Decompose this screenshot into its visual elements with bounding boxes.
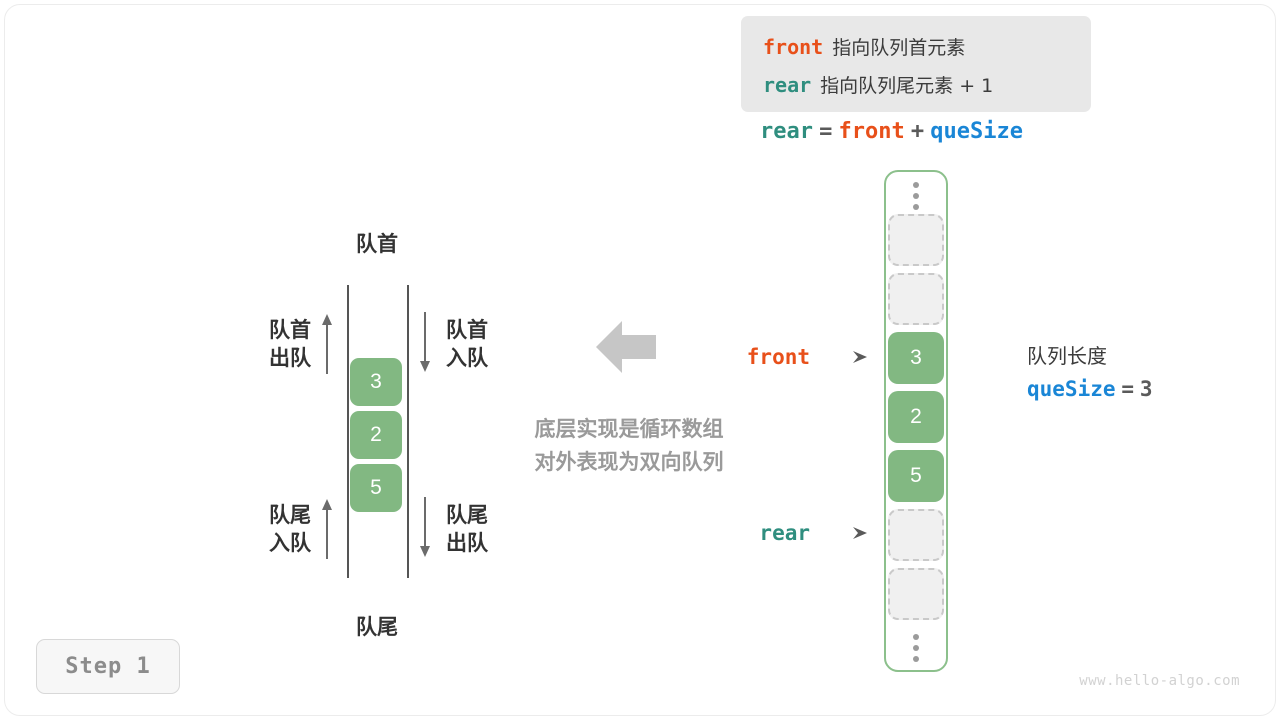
- legend-text-rear: 指向队列尾元素 + 1: [820, 75, 993, 97]
- ellipsis-top-icon: [906, 182, 926, 210]
- rear-pointer-arrow-icon: [852, 526, 870, 540]
- queue-size-block: 队列长度 queSize = 3: [1027, 340, 1153, 407]
- pointer-legend-box: front指向队列首元素 rear指向队列尾元素 + 1: [741, 16, 1091, 112]
- label-front-enqueue-line1: 队首: [446, 316, 488, 344]
- queue-size-formula: queSize = 3: [1027, 372, 1153, 407]
- deque-head-label: 队首: [317, 228, 437, 258]
- array-slot: 3: [888, 332, 944, 384]
- label-front-dequeue-line1: 队首: [249, 316, 311, 344]
- legend-keyword-rear: rear: [763, 73, 811, 97]
- label-rear-dequeue: 队尾 出队: [446, 501, 488, 557]
- label-rear-enqueue: 队尾 入队: [249, 501, 311, 557]
- arrow-up-icon: [320, 312, 334, 374]
- implementation-note-line2: 对外表现为双向队列: [500, 446, 758, 479]
- queue-size-equals: =: [1121, 377, 1134, 401]
- watermark: www.hello-algo.com: [1020, 673, 1240, 689]
- arrow-left-icon: [595, 318, 657, 381]
- array-slot: 5: [888, 450, 944, 502]
- front-pointer-label: front: [700, 345, 810, 369]
- diagram-canvas: front指向队列首元素 rear指向队列尾元素 + 1 rear = fron…: [0, 0, 1280, 720]
- legend-keyword-front: front: [763, 35, 823, 59]
- arrow-down-icon: [418, 312, 432, 374]
- label-front-enqueue: 队首 入队: [446, 316, 488, 372]
- array-slot: 2: [888, 391, 944, 443]
- formula-plus: +: [911, 119, 924, 144]
- label-front-dequeue-line2: 出队: [249, 344, 311, 372]
- queue-size-title: 队列长度: [1027, 340, 1153, 372]
- implementation-note: 底层实现是循环数组 对外表现为双向队列: [500, 413, 758, 479]
- deque-cell: 5: [350, 464, 402, 512]
- label-rear-enqueue-line2: 入队: [249, 529, 311, 557]
- legend-text-front: 指向队列首元素: [832, 37, 965, 59]
- deque-rail-left: [347, 285, 349, 578]
- formula-front: front: [838, 119, 904, 144]
- array-slot: [888, 273, 944, 325]
- deque-tail-label: 队尾: [317, 611, 437, 641]
- front-pointer-arrow-icon: [852, 350, 870, 364]
- ellipsis-bottom-icon: [906, 634, 926, 662]
- array-slot: [888, 509, 944, 561]
- array-slot: [888, 214, 944, 266]
- array-slot: [888, 568, 944, 620]
- label-rear-enqueue-line1: 队尾: [249, 501, 311, 529]
- queue-size-value: 3: [1140, 377, 1153, 401]
- queue-size-var: queSize: [1027, 377, 1116, 401]
- label-front-enqueue-line2: 入队: [446, 344, 488, 372]
- arrow-up-icon: [320, 497, 334, 559]
- formula-quesize: queSize: [930, 119, 1023, 144]
- deque-cell: 2: [350, 411, 402, 459]
- label-rear-dequeue-line2: 出队: [446, 529, 488, 557]
- formula-equals: =: [819, 119, 832, 144]
- implementation-note-line1: 底层实现是循环数组: [500, 413, 758, 446]
- label-rear-dequeue-line1: 队尾: [446, 501, 488, 529]
- legend-row-rear: rear指向队列尾元素 + 1: [763, 67, 1091, 105]
- step-badge: Step 1: [36, 639, 180, 694]
- deque-cell: 3: [350, 358, 402, 406]
- rear-formula: rear = front + queSize: [760, 118, 1023, 144]
- arrow-down-icon: [418, 497, 432, 559]
- formula-rear: rear: [760, 119, 813, 144]
- label-front-dequeue: 队首 出队: [249, 316, 311, 372]
- deque-rail-right: [407, 285, 409, 578]
- rear-pointer-label: rear: [700, 521, 810, 545]
- legend-row-front: front指向队列首元素: [763, 29, 1091, 67]
